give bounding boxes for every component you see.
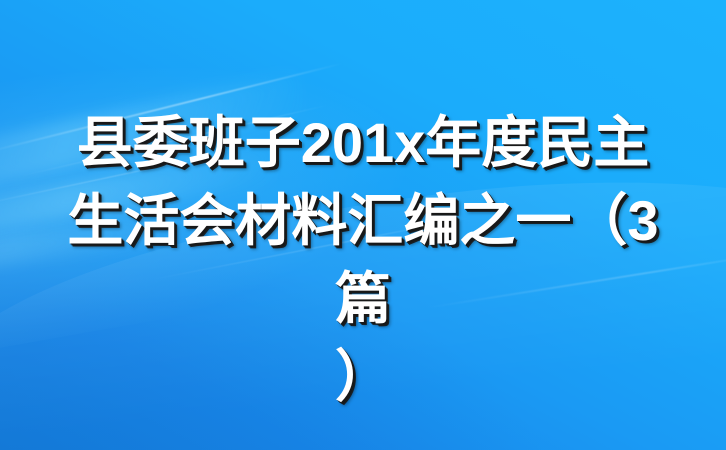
banner-title: 县委班子201x年度民主 生活会材料汇编之一（3篇 ）: [43, 104, 683, 416]
title-banner: 县委班子201x年度民主 生活会材料汇编之一（3篇 ）: [0, 0, 726, 450]
title-container: 县委班子201x年度民主 生活会材料汇编之一（3篇 ）: [0, 0, 726, 450]
